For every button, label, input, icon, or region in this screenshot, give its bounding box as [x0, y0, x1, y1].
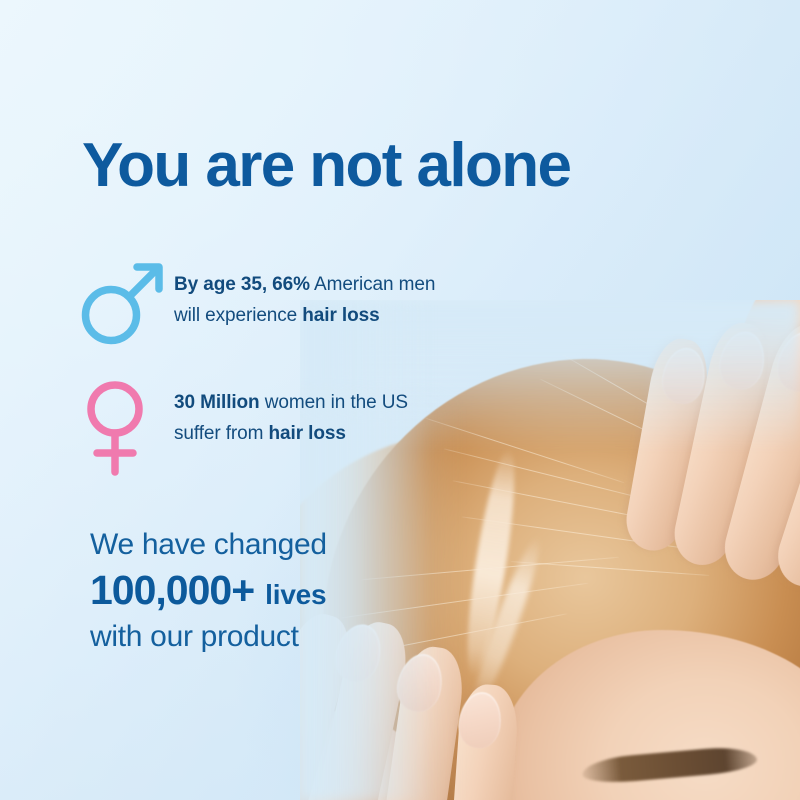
- page-title: You are not alone: [82, 134, 570, 197]
- female-gender-icon: [78, 376, 174, 468]
- stat-female-bold-1: 30 Million: [174, 392, 260, 413]
- hero-photo: [300, 300, 800, 800]
- closing-statement: We have changed 100,000+ lives with our …: [90, 524, 327, 658]
- lives-count: 100,000+: [90, 565, 254, 616]
- stat-male-line-2: will experience hair loss: [174, 301, 435, 332]
- stat-female-line-2: suffer from hair loss: [174, 419, 408, 450]
- closing-line-1: We have changed: [90, 524, 327, 565]
- hero-photo-inner: [300, 300, 800, 800]
- closing-line-2: 100,000+ lives: [90, 565, 327, 616]
- stat-male-rest-2: will experience: [174, 305, 302, 326]
- stat-male-bold-2: hair loss: [302, 305, 379, 326]
- stat-female-rest-2: suffer from: [174, 423, 269, 444]
- stat-female-rest-1: women in the US: [260, 392, 408, 413]
- stat-row-female: 30 Million women in the US suffer from h…: [78, 376, 408, 468]
- stat-male-bold-1: By age 35, 66%: [174, 274, 310, 295]
- closing-line-3: with our product: [90, 616, 327, 657]
- stat-row-male: By age 35, 66% American men will experie…: [78, 258, 435, 350]
- stat-text-female: 30 Million women in the US suffer from h…: [174, 376, 408, 450]
- stat-male-rest-1: American men: [310, 274, 435, 295]
- stat-female-bold-2: hair loss: [269, 423, 346, 444]
- stat-male-line-1: By age 35, 66% American men: [174, 270, 435, 301]
- male-gender-icon: [78, 258, 174, 350]
- lives-unit-label: lives: [265, 578, 326, 613]
- poster-canvas: You are not alone By age 35, 66% America…: [0, 0, 800, 800]
- stat-female-line-1: 30 Million women in the US: [174, 388, 408, 419]
- stat-text-male: By age 35, 66% American men will experie…: [174, 258, 435, 332]
